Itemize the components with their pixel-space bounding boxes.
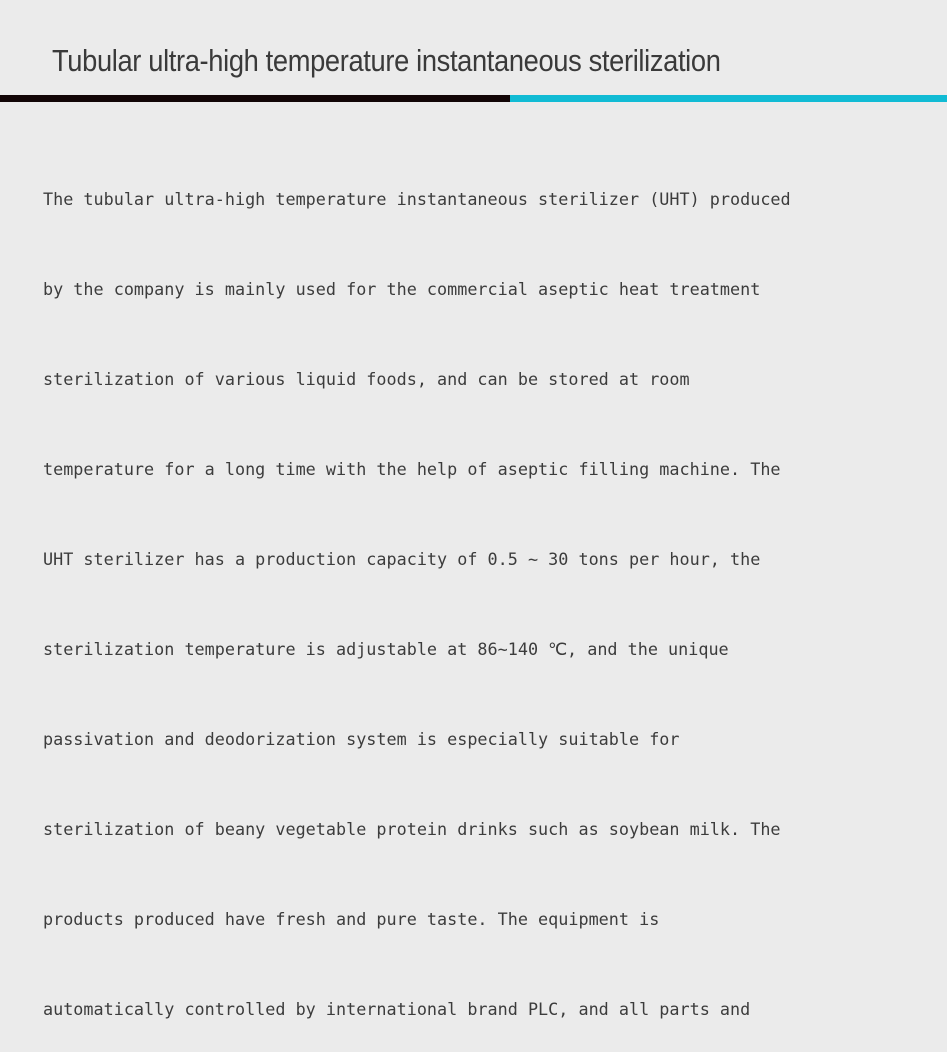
body-text-line: sterilization of beany vegetable protein… [43,814,923,844]
body-paragraph: The tubular ultra-high temperature insta… [43,124,923,1052]
body-text-line: products produced have fresh and pure ta… [43,904,923,934]
body-text-line: passivation and deodorization system is … [43,724,923,754]
body-text-line: sterilization of various liquid foods, a… [43,364,923,394]
title-divider [0,95,947,102]
body-text-line: automatically controlled by internationa… [43,994,923,1024]
page-title: Tubular ultra-high temperature instantan… [52,39,721,83]
body-text-line: temperature for a long time with the hel… [43,454,923,484]
body-text-line: UHT sterilizer has a production capacity… [43,544,923,574]
divider-accent-segment [510,95,947,102]
title-block: Tubular ultra-high temperature instantan… [0,0,947,96]
body-text-line: by the company is mainly used for the co… [43,274,923,304]
divider-dark-segment [0,95,510,102]
document-page: Tubular ultra-high temperature instantan… [0,0,947,526]
body-text-line: sterilization temperature is adjustable … [43,634,923,664]
body-text-line: The tubular ultra-high temperature insta… [43,184,923,214]
